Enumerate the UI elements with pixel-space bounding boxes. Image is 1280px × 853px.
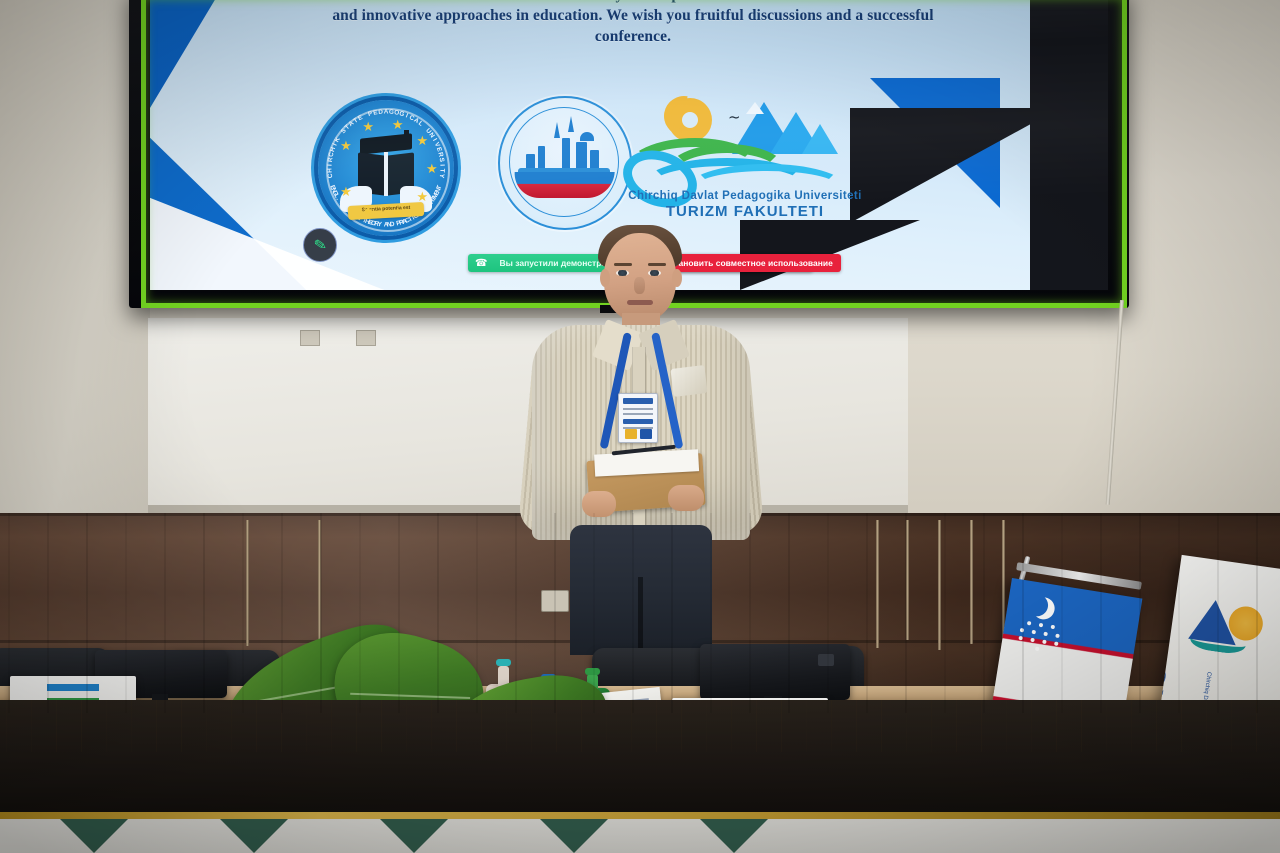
hand-left — [582, 491, 616, 517]
wall-rod — [938, 520, 941, 650]
flag-star — [1032, 630, 1037, 635]
badge-header-bar — [623, 398, 653, 404]
table-grain-line — [1231, 700, 1232, 752]
table-grain-line — [56, 700, 57, 752]
wood-grain-line — [8, 513, 10, 713]
clipboard-papers — [594, 449, 699, 476]
table-grain-line — [831, 700, 832, 752]
wood-grain-line — [1100, 513, 1102, 713]
table-grain-line — [456, 700, 457, 752]
table-grain-line — [756, 700, 757, 752]
table-grain-line — [581, 700, 582, 752]
table-grain-line — [656, 700, 657, 752]
wood-grain-line — [1139, 513, 1141, 713]
table-grain-line — [531, 700, 532, 752]
table-grain-line — [31, 700, 32, 752]
table-grain-line — [1056, 700, 1057, 752]
flag-star — [1030, 638, 1035, 643]
table-grain-line — [1081, 700, 1082, 752]
wood-grain-line — [944, 513, 946, 713]
left-wall-panel — [0, 0, 150, 520]
wood-grain-line — [125, 513, 127, 713]
table-grain-line — [106, 700, 107, 752]
table-grain-line — [356, 700, 357, 752]
table-grain-line — [431, 700, 432, 752]
flag-star — [1054, 641, 1059, 646]
wood-grain-line — [710, 513, 712, 713]
table-grain-line — [506, 700, 507, 752]
table-grain-line — [281, 700, 282, 752]
wood-grain-line — [1256, 513, 1258, 713]
floor-pattern — [540, 819, 608, 853]
badge-logo-right — [640, 429, 652, 439]
ear-right — [672, 269, 682, 287]
wood-grain-line — [1178, 513, 1180, 713]
wood-grain-line — [671, 513, 673, 713]
table-grain-line — [731, 700, 732, 752]
table-grain-line — [931, 700, 932, 752]
table-grain-line — [206, 700, 207, 752]
eyebrow-right — [648, 263, 666, 266]
table-grain-line — [381, 700, 382, 752]
eye-right — [648, 270, 661, 276]
table-grain-line — [1106, 700, 1107, 752]
flag-star — [1039, 623, 1044, 628]
hand-right — [668, 485, 704, 511]
table-grain-line — [231, 700, 232, 752]
wood-grain-line — [788, 513, 790, 713]
table-grain-line — [1256, 700, 1257, 752]
table-grain-line — [881, 700, 882, 752]
flag-star — [1055, 634, 1060, 639]
wood-grain-line — [866, 513, 868, 713]
wood-grain-line — [164, 513, 166, 713]
wood-grain-line — [905, 513, 907, 713]
wood-grain-line — [1217, 513, 1219, 713]
whiteboard-clip — [300, 330, 320, 346]
table-grain-line — [556, 700, 557, 752]
conference-room-photo: today and exp and innovative approaches … — [0, 0, 1280, 853]
flag-stripe-white — [47, 691, 99, 698]
flag-star — [1051, 625, 1056, 630]
wood-grain-line — [1022, 513, 1024, 713]
table-grain-line — [406, 700, 407, 752]
wood-grain-line — [242, 513, 244, 713]
wood-grain-line — [827, 513, 829, 713]
table-grain-line — [781, 700, 782, 752]
table-grain-line — [906, 700, 907, 752]
table-grain-line — [806, 700, 807, 752]
floor — [0, 819, 1280, 853]
table-grain-line — [1006, 700, 1007, 752]
flag-star — [1042, 640, 1047, 645]
table-grain-line — [256, 700, 257, 752]
table-grain-line — [606, 700, 607, 752]
floor-pattern — [380, 819, 448, 853]
nose — [634, 277, 645, 294]
table-grain-line — [331, 700, 332, 752]
wood-grain-line — [554, 513, 556, 713]
eye-left — [616, 270, 629, 276]
flag-star — [1043, 632, 1048, 637]
wood-grain-line — [398, 513, 400, 713]
speaker-person — [520, 225, 765, 645]
table-grain-line — [681, 700, 682, 752]
eyebrow-left — [614, 263, 632, 266]
table-grain-line — [706, 700, 707, 752]
whiteboard-clip — [356, 330, 376, 346]
ear-left — [600, 269, 610, 287]
table-grain-line — [81, 700, 82, 752]
wood-grain-line — [632, 513, 634, 713]
table-grain-line — [856, 700, 857, 752]
badge-text-line — [623, 408, 653, 410]
conference-badge — [618, 393, 658, 443]
wall-rod — [876, 520, 879, 648]
wood-grain-line — [47, 513, 49, 713]
wood-grain-line — [1061, 513, 1063, 713]
table-grain-line — [1031, 700, 1032, 752]
stage-edge-strip — [0, 812, 1280, 819]
floor-pattern — [220, 819, 288, 853]
wood-grain-line — [515, 513, 517, 713]
table-grain-line — [131, 700, 132, 752]
floor-pattern — [60, 819, 128, 853]
table-grain-line — [181, 700, 182, 752]
monitor-ports — [818, 654, 834, 666]
table-grain-line — [481, 700, 482, 752]
badge-text-line — [623, 413, 653, 415]
table-grain-line — [956, 700, 957, 752]
crescent-icon — [1024, 593, 1049, 618]
table-grain-line — [1181, 700, 1182, 752]
wood-grain-line — [476, 513, 478, 713]
table-grain-line — [306, 700, 307, 752]
table-grain-line — [6, 700, 7, 752]
flag-stripe-blue — [47, 684, 99, 691]
table-grain-line — [631, 700, 632, 752]
wood-grain-line — [437, 513, 439, 713]
table-grain-line — [981, 700, 982, 752]
wood-grain-line — [86, 513, 88, 713]
shirt-pocket — [670, 365, 707, 397]
wall-rod — [970, 520, 973, 644]
wood-grain-line — [320, 513, 322, 713]
mouth — [627, 300, 653, 305]
table-grain-line — [1131, 700, 1132, 752]
badge-logo-left — [625, 429, 637, 439]
wood-grain-line — [281, 513, 283, 713]
leaf-vein — [350, 693, 470, 699]
wood-grain-line — [359, 513, 361, 713]
floor-pattern — [700, 819, 768, 853]
wood-grain-line — [749, 513, 751, 713]
wood-grain-line — [983, 513, 985, 713]
flag-star — [1027, 621, 1032, 626]
badge-accent-bar — [623, 419, 653, 424]
table-grain-line — [156, 700, 157, 752]
flag-star — [1035, 647, 1040, 652]
wood-grain-line — [203, 513, 205, 713]
wood-grain-line — [593, 513, 595, 713]
table-grain-line — [1206, 700, 1207, 752]
table-grain-line — [1156, 700, 1157, 752]
stage-front-panel — [0, 700, 1280, 820]
